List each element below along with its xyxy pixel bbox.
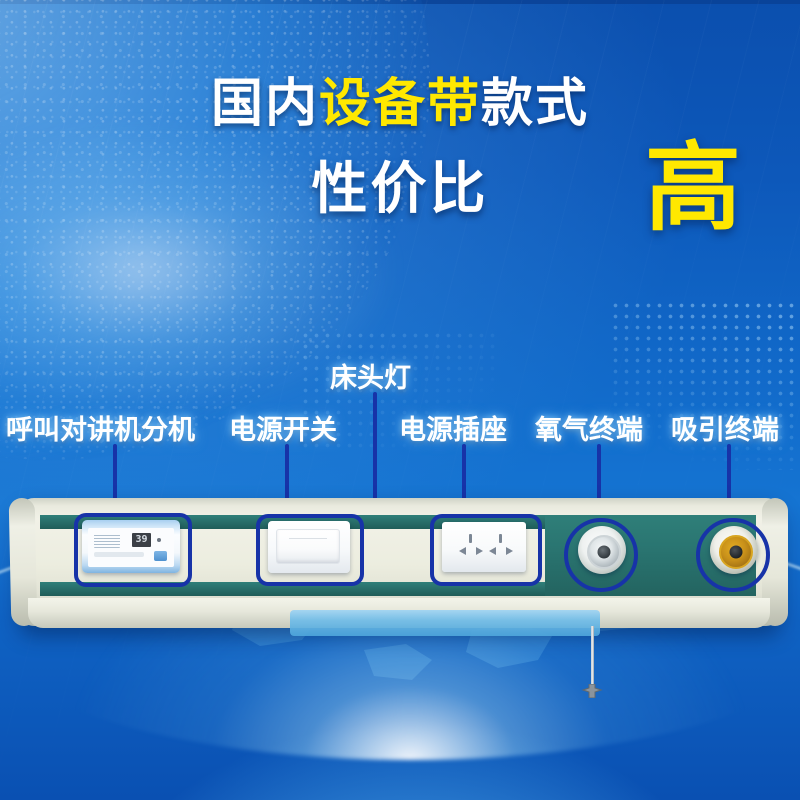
page-title: 国内设备带款式 — [0, 78, 800, 130]
callout-label-bed-lamp: 床头灯 — [330, 356, 411, 395]
title-highlight: 设备带 — [319, 74, 481, 134]
bed-lamp-light-strip — [290, 610, 600, 636]
callout-label-suction-terminal: 吸引终端 — [671, 408, 779, 447]
highlight-box-intercom — [74, 513, 192, 587]
pull-cord-handle-icon[interactable] — [578, 684, 606, 698]
highlight-circle-suction — [696, 518, 770, 592]
callout-label-power-socket: 电源插座 — [399, 408, 507, 447]
highlight-box-power-socket — [430, 514, 542, 586]
emphasis-character: 高 — [645, 140, 741, 236]
pull-cord-line[interactable] — [591, 626, 594, 688]
title-part-1: 国内 — [211, 74, 319, 134]
highlight-box-power-switch — [256, 514, 364, 586]
title-part-3: 款式 — [481, 74, 589, 134]
callout-label-oxygen-terminal: 氧气终端 — [535, 408, 643, 447]
callout-label-power-switch: 电源开关 — [229, 408, 337, 447]
highlight-circle-oxygen — [564, 518, 638, 592]
callout-label-intercom: 呼叫对讲机分机 — [6, 408, 195, 447]
poster-canvas: 国内设备带款式 性价比 高 呼叫对讲机分机 电源开关 床头灯 电源插座 氧气终端… — [0, 0, 800, 800]
